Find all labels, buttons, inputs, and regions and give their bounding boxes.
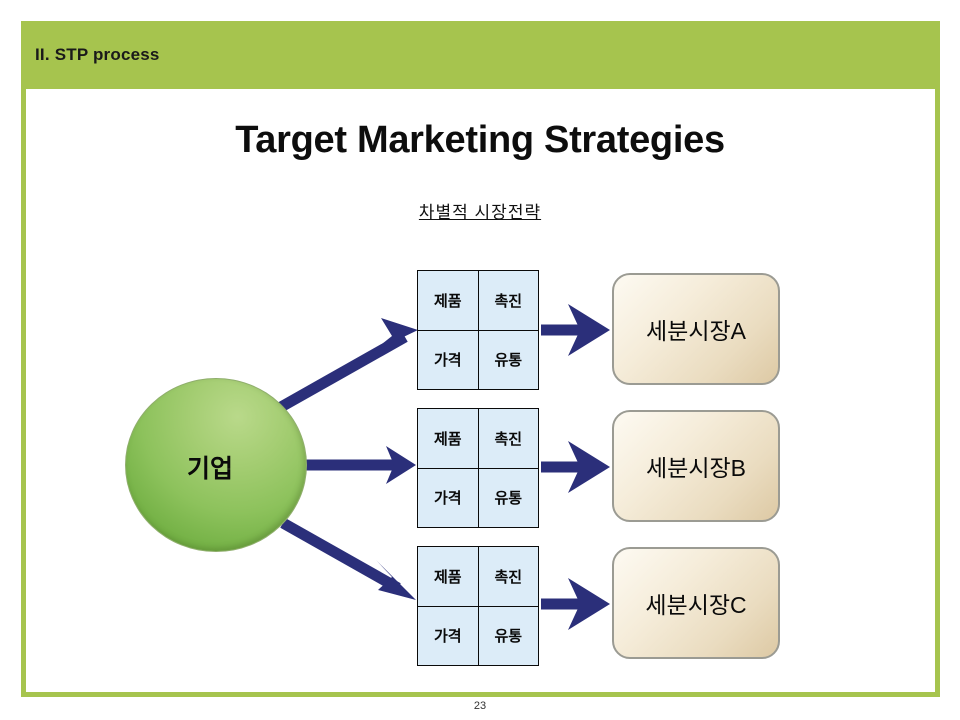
page-title: Target Marketing Strategies — [0, 119, 960, 162]
segment-label: 세분시장B — [646, 449, 746, 483]
section-label: II. STP process — [35, 45, 160, 65]
mix-cell-place: 유통 — [478, 330, 539, 390]
mix-cell-place: 유통 — [478, 606, 539, 666]
mix-cell-price: 가격 — [418, 468, 479, 528]
segment-label: 세분시장A — [646, 312, 746, 346]
page-number: 23 — [0, 700, 960, 712]
mix-cell-place: 유통 — [478, 468, 539, 528]
marketing-mix-table[interactable]: 제품 촉진 가격 유통 — [417, 546, 539, 666]
marketing-mix-table[interactable]: 제품 촉진 가격 유통 — [417, 270, 539, 390]
mix-cell-product: 제품 — [418, 547, 479, 607]
mix-cell-product: 제품 — [418, 271, 479, 331]
mix-cell-price: 가격 — [418, 330, 479, 390]
mix-cell-promotion: 촉진 — [478, 409, 539, 469]
company-label: 기업 — [187, 449, 233, 485]
page-subtitle: 차별적 시장전략 — [0, 198, 960, 223]
company-node[interactable]: 기업 — [125, 378, 307, 552]
mix-cell-price: 가격 — [418, 606, 479, 666]
segment-box-b[interactable]: 세분시장B — [612, 410, 780, 522]
mix-cell-promotion: 촉진 — [478, 271, 539, 331]
segment-box-c[interactable]: 세분시장C — [612, 547, 780, 659]
page-subtitle-text: 차별적 시장전략 — [419, 203, 541, 222]
mix-cell-promotion: 촉진 — [478, 547, 539, 607]
segment-box-a[interactable]: 세분시장A — [612, 273, 780, 385]
segment-label: 세분시장C — [645, 586, 746, 620]
slide-header-band: II. STP process — [21, 21, 940, 89]
mix-cell-product: 제품 — [418, 409, 479, 469]
marketing-mix-table[interactable]: 제품 촉진 가격 유통 — [417, 408, 539, 528]
